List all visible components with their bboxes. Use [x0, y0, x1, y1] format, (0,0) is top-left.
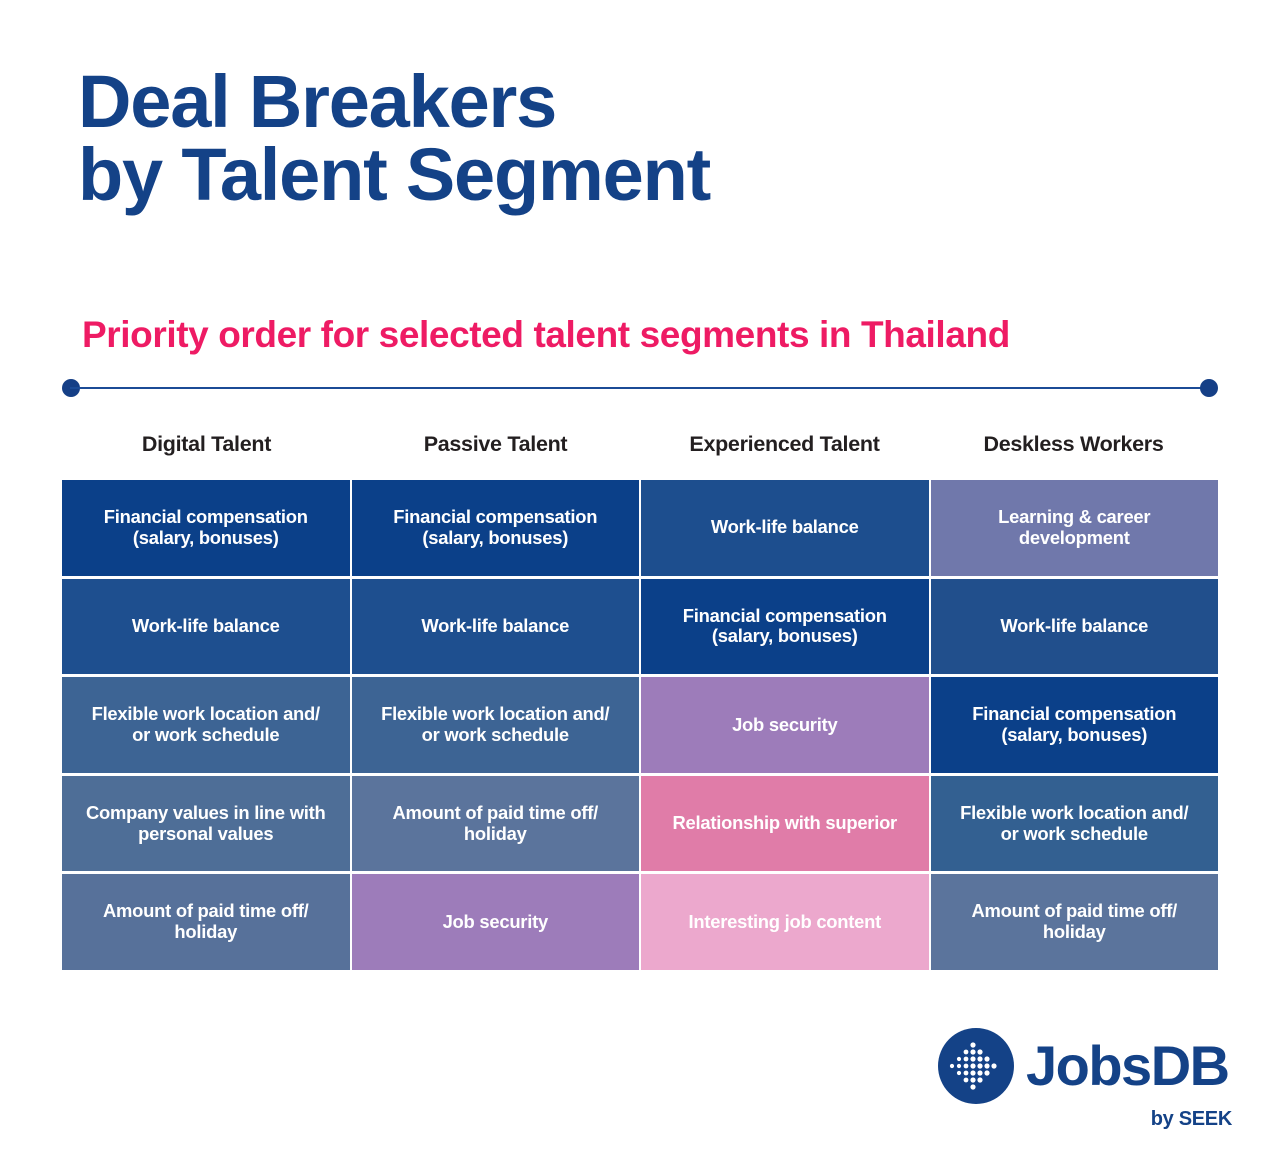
- divider-dot-right-icon: [1200, 379, 1218, 397]
- column-header: Digital Talent: [62, 432, 351, 457]
- matrix-cell: Company values in line with personal val…: [62, 776, 350, 872]
- infographic-page: Deal Breakers by Talent Segment Priority…: [0, 0, 1280, 1152]
- divider-line: [70, 387, 1210, 389]
- matrix-cell: Work-life balance: [62, 579, 350, 675]
- matrix-column: Financial compensation (salary, bonuses)…: [62, 480, 350, 970]
- matrix-cell: Interesting job content: [641, 874, 929, 970]
- jobsdb-wordmark: JobsDB: [1026, 1038, 1229, 1094]
- matrix-cell: Work-life balance: [352, 579, 640, 675]
- matrix-cell: Amount of paid time off/ holiday: [931, 874, 1219, 970]
- column-header: Passive Talent: [351, 432, 640, 457]
- matrix-cell: Flexible work location and/ or work sche…: [62, 677, 350, 773]
- matrix-cell: Flexible work location and/ or work sche…: [931, 776, 1219, 872]
- jobsdb-byline: by SEEK: [938, 1108, 1232, 1131]
- column-header: Deskless Workers: [929, 432, 1218, 457]
- matrix-cell: Amount of paid time off/ holiday: [62, 874, 350, 970]
- page-title: Deal Breakers by Talent Segment: [78, 66, 1078, 211]
- matrix-cell: Relationship with superior: [641, 776, 929, 872]
- matrix-cell: Job security: [352, 874, 640, 970]
- column-header: Experienced Talent: [640, 432, 929, 457]
- matrix-cell: Learning & career development: [931, 480, 1219, 576]
- matrix-cell: Financial compensation (salary, bonuses): [641, 579, 929, 675]
- matrix-cell: Work-life balance: [641, 480, 929, 576]
- column-headers: Digital TalentPassive TalentExperienced …: [62, 432, 1218, 457]
- matrix-column: Learning & career developmentWork-life b…: [931, 480, 1219, 970]
- header-block: Deal Breakers by Talent Segment: [78, 66, 1078, 211]
- matrix-column: Work-life balanceFinancial compensation …: [641, 480, 929, 970]
- matrix-cell: Job security: [641, 677, 929, 773]
- jobsdb-logo: JobsDB by SEEK: [938, 1028, 1234, 1128]
- jobsdb-arrow-mark-icon: [938, 1028, 1014, 1104]
- matrix-cell: Financial compensation (salary, bonuses): [931, 677, 1219, 773]
- logo-row: JobsDB: [938, 1028, 1234, 1104]
- matrix-cell: Work-life balance: [931, 579, 1219, 675]
- page-subtitle: Priority order for selected talent segme…: [82, 314, 1010, 356]
- section-divider: [62, 379, 1218, 397]
- matrix-cell: Financial compensation (salary, bonuses): [62, 480, 350, 576]
- matrix-cell: Amount of paid time off/ holiday: [352, 776, 640, 872]
- matrix-column: Financial compensation (salary, bonuses)…: [352, 480, 640, 970]
- matrix-cell: Financial compensation (salary, bonuses): [352, 480, 640, 576]
- talent-segment-matrix: Financial compensation (salary, bonuses)…: [62, 480, 1218, 970]
- matrix-cell: Flexible work location and/ or work sche…: [352, 677, 640, 773]
